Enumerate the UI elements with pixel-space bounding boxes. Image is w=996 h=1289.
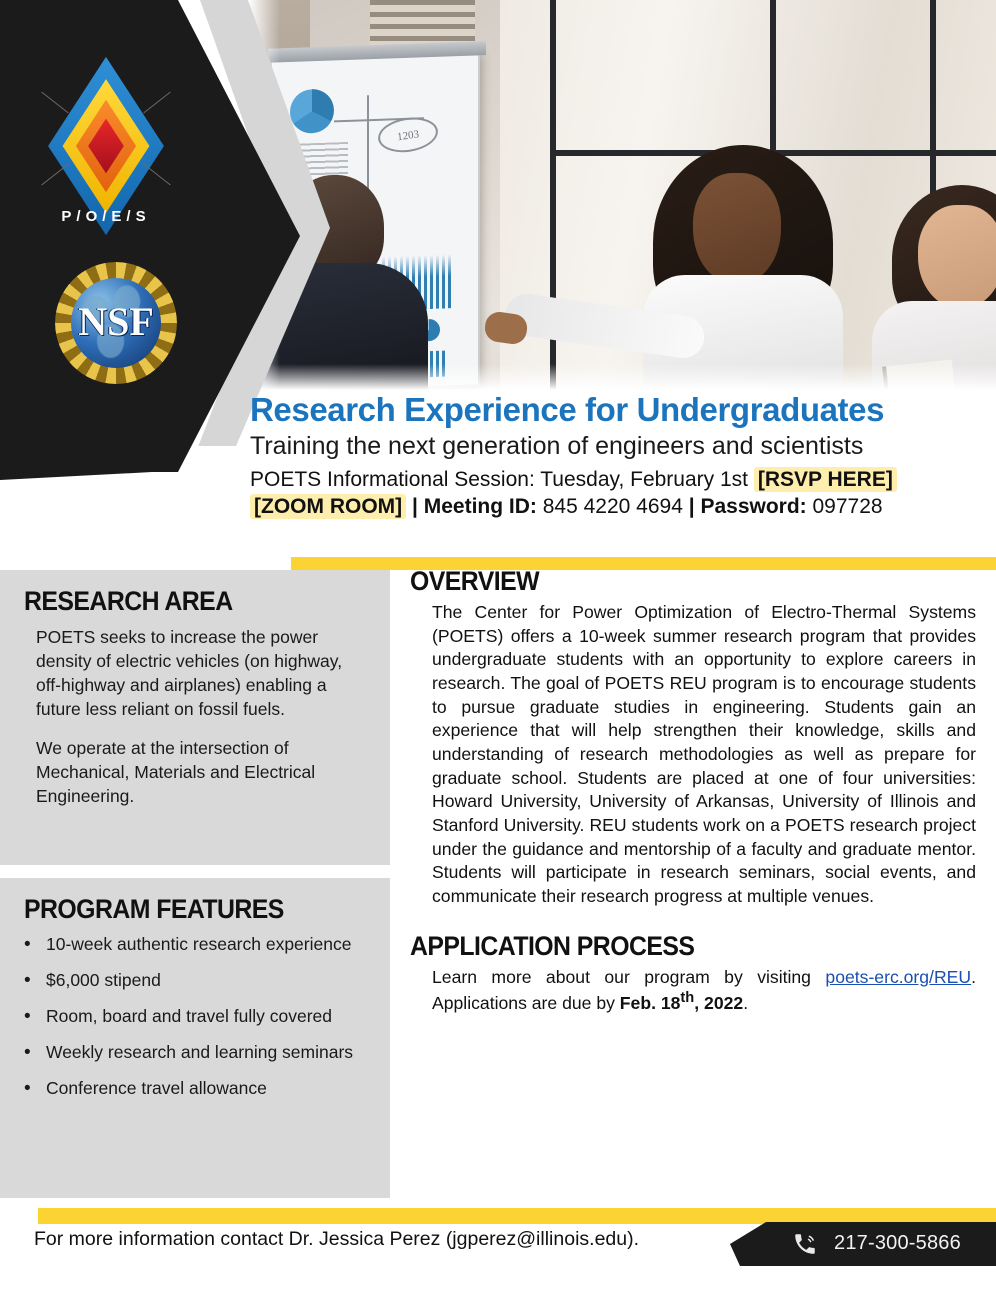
application-process-heading: APPLICATION PROCESS [410,931,931,962]
application-lead-text: Learn more about our program by visiting [432,967,825,987]
password-value: 097728 [813,495,883,518]
research-area-panel: RESEARCH AREA POETS seeks to increase th… [0,570,390,865]
header-banner: 1203 [0,0,996,560]
list-item: Weekly research and learning seminars [46,1041,372,1064]
password-label: Password: [700,495,806,518]
nsf-logo: NSF [55,262,177,384]
application-process-body: Learn more about our program by visiting… [432,966,976,1016]
separator-2: | [689,495,695,518]
deadline-year: , 2022 [694,993,743,1013]
page-subtitle: Training the next generation of engineer… [250,431,980,462]
page-title: Research Experience for Undergraduates [250,392,980,429]
overview-body: The Center for Power Optimization of Ele… [432,601,976,909]
footer-yellow-divider [38,1208,996,1224]
meeting-id-value: 845 4220 4694 [543,495,683,518]
overview-heading: OVERVIEW [410,566,931,597]
separator-1: | [412,495,418,518]
poets-logo: P/O/E/S [38,86,174,236]
footer-phone-number[interactable]: 217-300-5866 [834,1232,961,1255]
nsf-wordmark: NSF [55,298,177,345]
deadline-ordinal-suffix: th [680,990,694,1006]
session-line: POETS Informational Session: Tuesday, Fe… [250,468,980,492]
research-area-heading: RESEARCH AREA [24,586,361,617]
chart-pie-graphic [290,88,334,134]
meeting-line: [ZOOM ROOM] | Meeting ID: 845 4220 4694 … [250,495,980,519]
research-area-paragraph: POETS seeks to increase the power densit… [36,625,366,722]
footer-contact-text: For more information contact Dr. Jessica… [34,1228,639,1251]
presenter-figure [635,145,850,390]
program-features-panel: PROGRAM FEATURES 10-week authentic resea… [0,878,390,1198]
presenter-face [693,173,781,285]
poets-cube-icon [38,86,174,206]
program-website-link[interactable]: poets-erc.org/REU [825,967,971,987]
seated-attendee-right [870,185,996,390]
list-item: $6,000 stipend [46,969,372,992]
attendee-face [918,205,996,309]
photo-fade-bottom [250,364,996,390]
poets-wordmark: P/O/E/S [38,208,174,225]
hero-photo: 1203 [250,0,996,390]
phone-icon [792,1231,818,1257]
meeting-id-label: Meeting ID: [424,495,537,518]
footer-phone-banner: 217-300-5866 [730,1222,996,1266]
list-item: 10-week authentic research experience [46,933,372,956]
application-end-text: . [743,993,748,1013]
deadline-date: Feb. 18 [620,993,681,1013]
rsvp-link[interactable]: [RSVP HERE] [754,467,897,492]
program-features-heading: PROGRAM FEATURES [24,894,361,925]
session-text: POETS Informational Session: Tuesday, Fe… [250,468,748,491]
cube-spokes [38,86,174,206]
list-item: Room, board and travel fully covered [46,1005,372,1028]
list-item: Conference travel allowance [46,1077,372,1100]
title-block: Research Experience for Undergraduates T… [250,392,980,519]
zoom-room-link[interactable]: [ZOOM ROOM] [250,494,406,519]
research-area-paragraph: We operate at the intersection of Mechan… [36,736,366,808]
main-content-column: OVERVIEW The Center for Power Optimizati… [410,566,976,1016]
program-features-list: 10-week authentic research experience $6… [46,933,372,1100]
